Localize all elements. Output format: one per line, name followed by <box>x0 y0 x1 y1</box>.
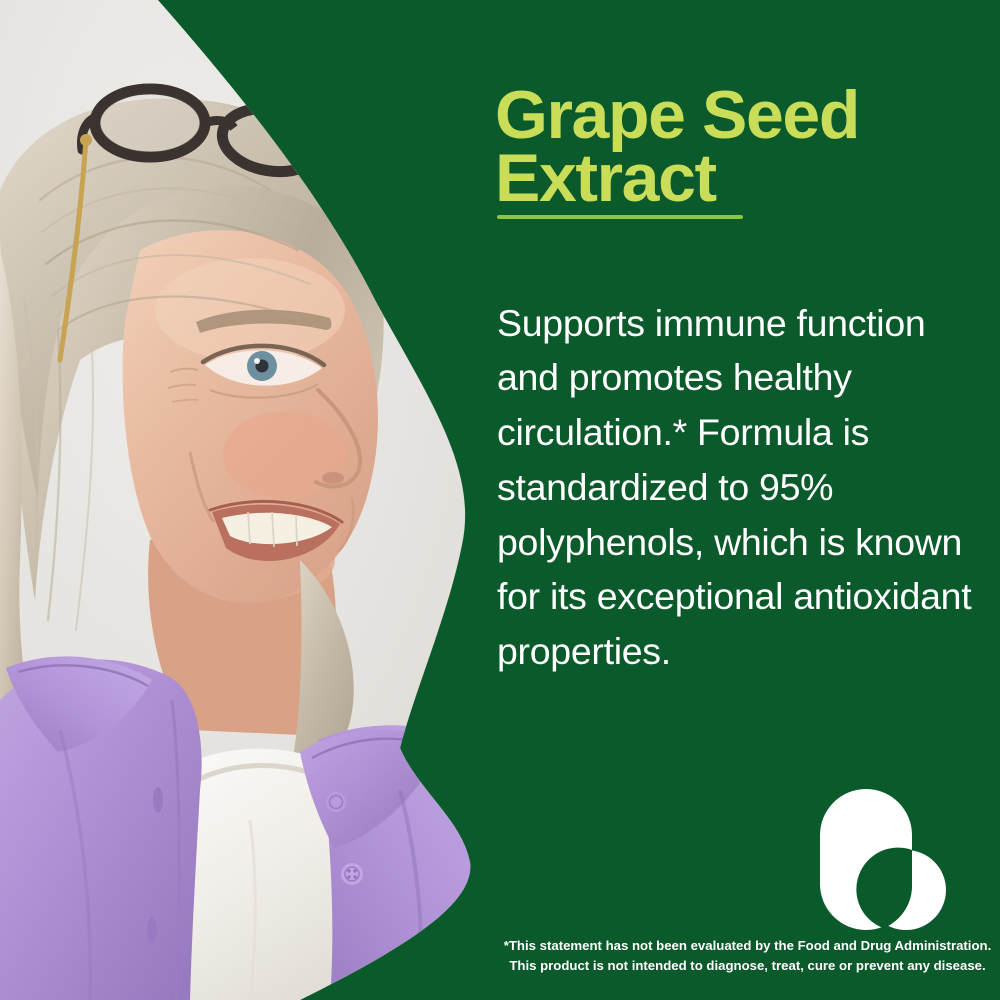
product-benefit-card: Grape Seed Extract Supports immune funct… <box>0 0 1000 1000</box>
brand-logo-icon <box>820 785 955 930</box>
title-divider <box>497 215 743 219</box>
content-column: Grape Seed Extract Supports immune funct… <box>495 0 1000 1000</box>
fda-disclaimer: *This statement has not been evaluated b… <box>495 936 1000 976</box>
benefit-description: Supports immune function and promotes he… <box>497 296 997 679</box>
page-title: Grape Seed Extract <box>495 84 995 212</box>
hero-photo-illustration <box>0 0 500 1000</box>
hero-photo-panel <box>0 0 500 1000</box>
disclaimer-line-1: *This statement has not been evaluated b… <box>495 936 1000 956</box>
disclaimer-line-2: This product is not intended to diagnose… <box>495 956 1000 976</box>
